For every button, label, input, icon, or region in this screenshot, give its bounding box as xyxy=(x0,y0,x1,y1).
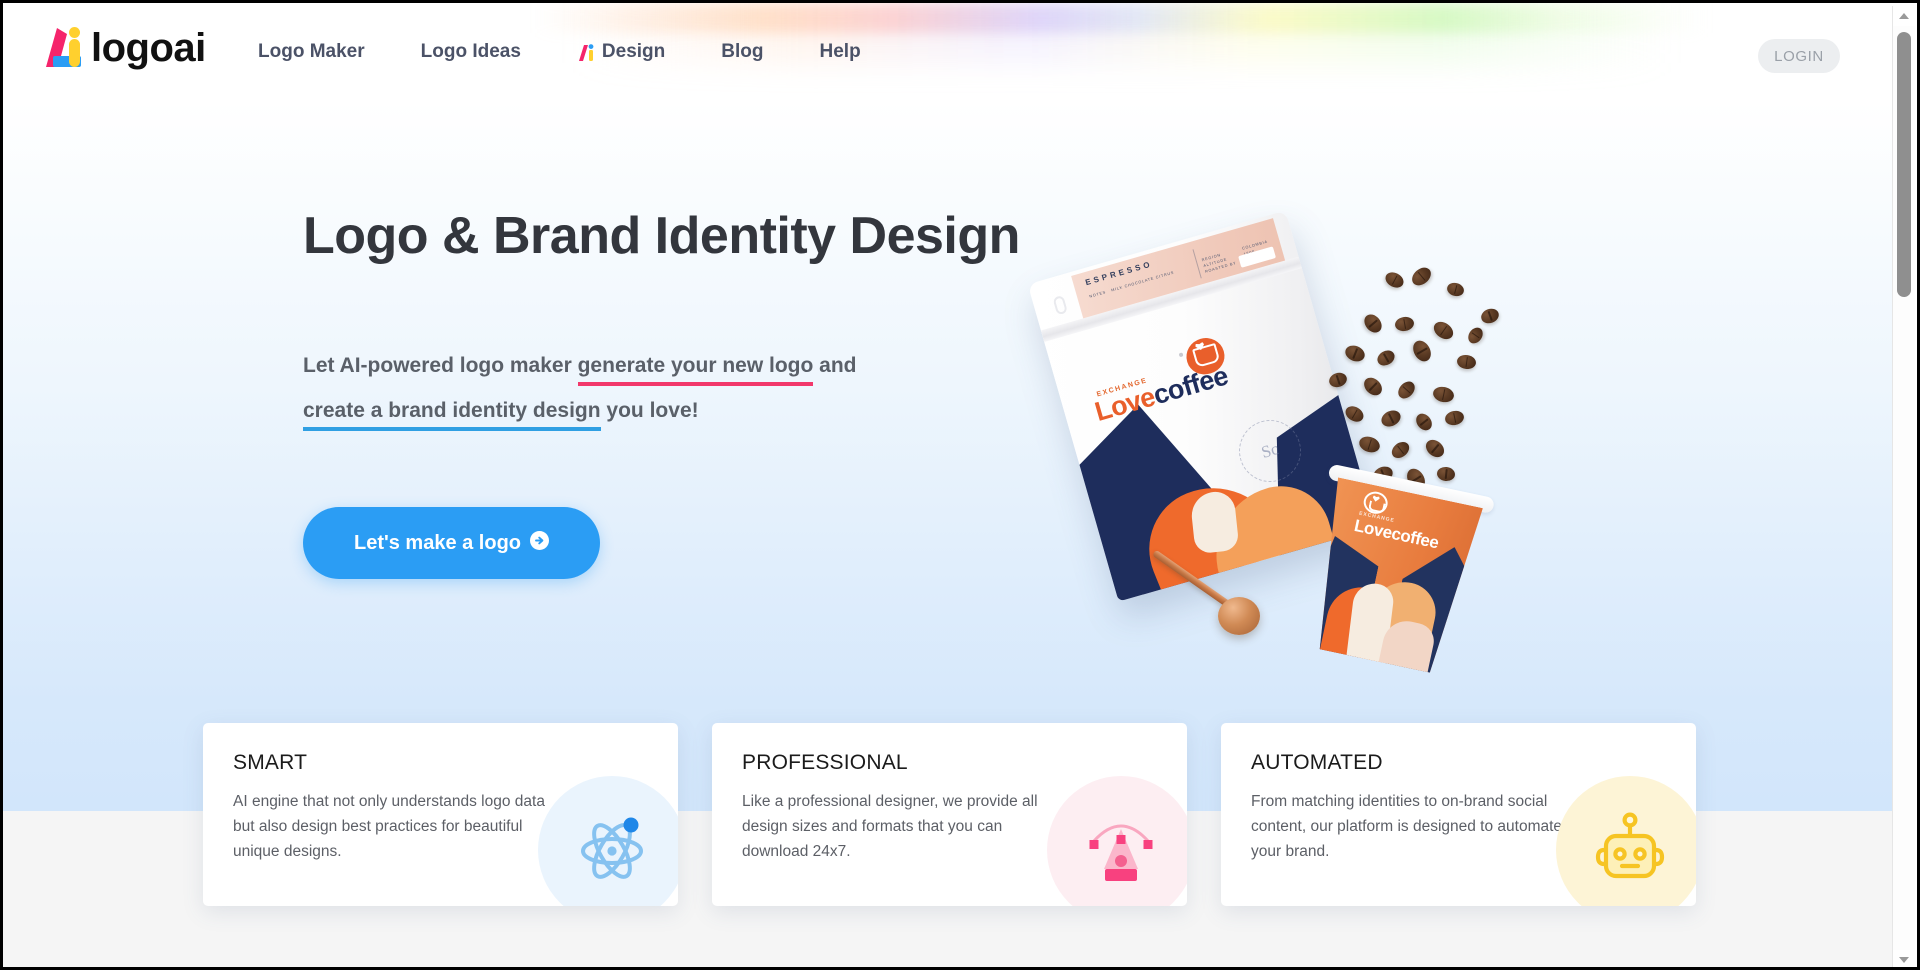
login-button[interactable]: LOGIN xyxy=(1758,39,1840,73)
bag-notes-label: NOTES xyxy=(1089,290,1107,299)
hero-subtitle-part1: Let AI-powered logo maker xyxy=(303,354,578,377)
site-header: logoai Logo Maker Logo Ideas xyxy=(3,3,1898,101)
feature-card-smart-title: SMART xyxy=(233,751,648,775)
brand-name: logoai xyxy=(91,25,206,71)
nav-design[interactable]: Design xyxy=(577,33,665,71)
cup-body: EXCHANGE Lovecoffee xyxy=(1302,477,1483,676)
nav-blog[interactable]: Blog xyxy=(721,33,763,71)
feature-icon-background xyxy=(1556,776,1696,906)
nav-logo-ideas-label: Logo Ideas xyxy=(421,41,521,63)
nav-help-label: Help xyxy=(820,41,861,63)
feature-card-smart[interactable]: SMART AI engine that not only understand… xyxy=(203,723,678,906)
vertical-scrollbar[interactable] xyxy=(1892,6,1914,970)
browser-viewport: logoai Logo Maker Logo Ideas xyxy=(0,0,1920,970)
make-logo-button-label: Let's make a logo xyxy=(354,532,521,555)
feature-icon-background xyxy=(538,776,678,906)
make-logo-button[interactable]: Let's make a logo xyxy=(303,507,600,579)
ai-design-icon xyxy=(577,43,599,63)
feature-cards: SMART AI engine that not only understand… xyxy=(203,723,1696,906)
feature-card-professional-desc: Like a professional designer, we provide… xyxy=(742,789,1062,864)
scroll-up-arrow-icon[interactable] xyxy=(1893,6,1915,26)
page-canvas: logoai Logo Maker Logo Ideas xyxy=(3,3,1898,967)
arrow-right-circle-icon xyxy=(530,531,549,556)
hero-artwork: ESPRESSO NOTES MILK CHOCOLATE CITRUS REG… xyxy=(1033,111,1653,731)
nav-logo-maker-label: Logo Maker xyxy=(258,41,365,63)
feature-icon-background xyxy=(1047,776,1187,906)
hero-subtitle-part3: you love! xyxy=(601,399,699,422)
hero-subtitle: Let AI-powered logo maker generate your … xyxy=(303,343,1043,433)
scoop-handle xyxy=(1152,550,1231,609)
brand-logo-link[interactable]: logoai xyxy=(39,25,206,71)
nav-logo-ideas[interactable]: Logo Ideas xyxy=(421,33,521,71)
page-title: Logo & Brand Identity Design xyxy=(303,206,1020,266)
atom-icon xyxy=(575,811,649,890)
nav-blog-label: Blog xyxy=(721,41,763,63)
bag-hang-hole xyxy=(1052,295,1068,315)
hero-section: Logo & Brand Identity Design Let AI-powe… xyxy=(3,101,1898,811)
copper-coffee-scoop-icon xyxy=(1148,541,1278,651)
feature-card-smart-desc: AI engine that not only understands logo… xyxy=(233,789,553,864)
scroll-down-arrow-icon[interactable] xyxy=(1893,950,1915,970)
hero-subtitle-part2: and xyxy=(813,354,856,377)
logoai-triangle-icon xyxy=(39,25,93,71)
nav-help[interactable]: Help xyxy=(820,33,861,71)
robot-icon xyxy=(1592,810,1668,891)
feature-card-professional[interactable]: PROFESSIONAL Like a professional designe… xyxy=(712,723,1187,906)
feature-card-automated-desc: From matching identities to on-brand soc… xyxy=(1251,789,1571,864)
main-navigation: Logo Maker Logo Ideas Design xyxy=(258,33,917,71)
hero-subtitle-highlight-pink: generate your new logo xyxy=(578,354,814,386)
feature-card-professional-title: PROFESSIONAL xyxy=(742,751,1157,775)
hero-subtitle-highlight-blue: create a brand identity design xyxy=(303,399,601,431)
feature-card-automated[interactable]: AUTOMATED From matching identities to on… xyxy=(1221,723,1696,906)
nav-design-label: Design xyxy=(602,41,665,63)
cup-brand-wordmark: Lovecoffee xyxy=(1352,516,1440,553)
pen-tool-icon xyxy=(1084,811,1158,890)
scrollbar-thumb[interactable] xyxy=(1897,32,1911,297)
bag-label-attrs: REGION ALTITUDE ROASTED BY xyxy=(1201,249,1237,275)
feature-card-automated-title: AUTOMATED xyxy=(1251,751,1666,775)
nav-logo-maker[interactable]: Logo Maker xyxy=(258,33,365,71)
bag-notch-dot xyxy=(1179,352,1184,357)
header-rainbow-gradient xyxy=(3,3,1898,33)
scoop-bowl xyxy=(1218,597,1260,635)
